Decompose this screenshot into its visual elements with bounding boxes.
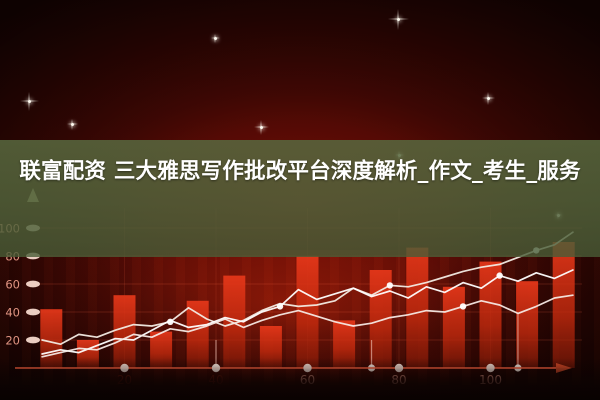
bottom-shadow — [0, 358, 600, 400]
bar — [406, 248, 428, 368]
series-marker — [277, 303, 283, 309]
y-tick-mark — [26, 309, 40, 316]
bar — [443, 287, 465, 368]
series-marker — [460, 303, 466, 309]
y-tick-label: 60 — [5, 278, 20, 292]
y-tick-mark — [26, 281, 40, 288]
series-marker — [387, 282, 393, 288]
series-marker — [496, 272, 502, 278]
bar — [553, 242, 575, 368]
page-title: 联富配资 三大雅思写作批改平台深度解析_作文_考生_服务 — [0, 155, 600, 189]
chart-screenshot: 2040608010020406080100 联富配资 三大雅思写作批改平台深度… — [0, 0, 600, 400]
bar — [297, 256, 319, 368]
y-tick-label: 20 — [5, 334, 20, 348]
y-tick-mark — [26, 337, 40, 344]
bar — [516, 281, 538, 368]
y-tick-label: 40 — [5, 306, 20, 320]
